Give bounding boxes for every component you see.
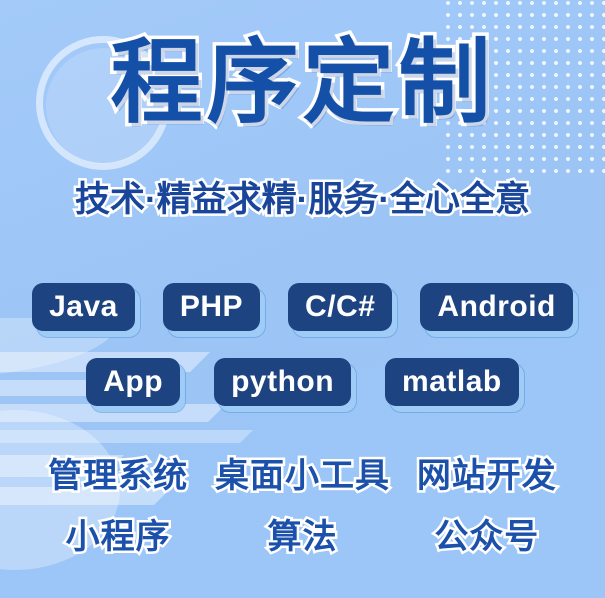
tech-tag-row-1: Java PHP C/C# Android <box>0 283 605 331</box>
tech-tag-matlab[interactable]: matlab <box>385 358 519 406</box>
tech-tag-label: Android <box>437 290 555 324</box>
service-website-development[interactable]: 网站开发 <box>395 448 579 497</box>
tech-tag-c-csharp[interactable]: C/C# <box>288 283 392 331</box>
tech-tag-app[interactable]: App <box>86 358 180 406</box>
tech-tag-label: Java <box>49 290 118 324</box>
tech-tag-label: python <box>231 365 334 399</box>
tech-tag-row-2: App python matlab <box>0 358 605 406</box>
tech-tag-php[interactable]: PHP <box>163 283 260 331</box>
service-official-account[interactable]: 公众号 <box>395 509 579 558</box>
service-desktop-tool[interactable]: 桌面小工具 <box>210 448 394 497</box>
service-algorithm[interactable]: 算法 <box>210 509 394 558</box>
stripe-decoration <box>0 404 208 422</box>
services-row-1: 管理系统 桌面小工具 网站开发 <box>26 448 579 497</box>
tech-tag-android[interactable]: Android <box>420 283 572 331</box>
service-management-system[interactable]: 管理系统 <box>26 448 210 497</box>
tech-tag-label: matlab <box>402 365 502 399</box>
page-title: 程序定制 <box>0 34 605 133</box>
services-grid: 管理系统 桌面小工具 网站开发 小程序 算法 公众号 <box>26 448 579 558</box>
promo-poster: 程序定制 技术·精益求精·服务·全心全意 Java PHP C/C# Andro… <box>0 0 605 598</box>
tech-tag-label: PHP <box>180 290 243 324</box>
tech-tag-label: C/C# <box>305 290 375 324</box>
tech-tag-java[interactable]: Java <box>32 283 135 331</box>
page-subtitle: 技术·精益求精·服务·全心全意 <box>0 179 605 221</box>
tech-tag-python[interactable]: python <box>214 358 351 406</box>
stripe-decoration <box>0 430 240 443</box>
tech-tag-label: App <box>103 365 163 399</box>
services-row-2: 小程序 算法 公众号 <box>26 509 579 558</box>
service-mini-program[interactable]: 小程序 <box>26 509 210 558</box>
